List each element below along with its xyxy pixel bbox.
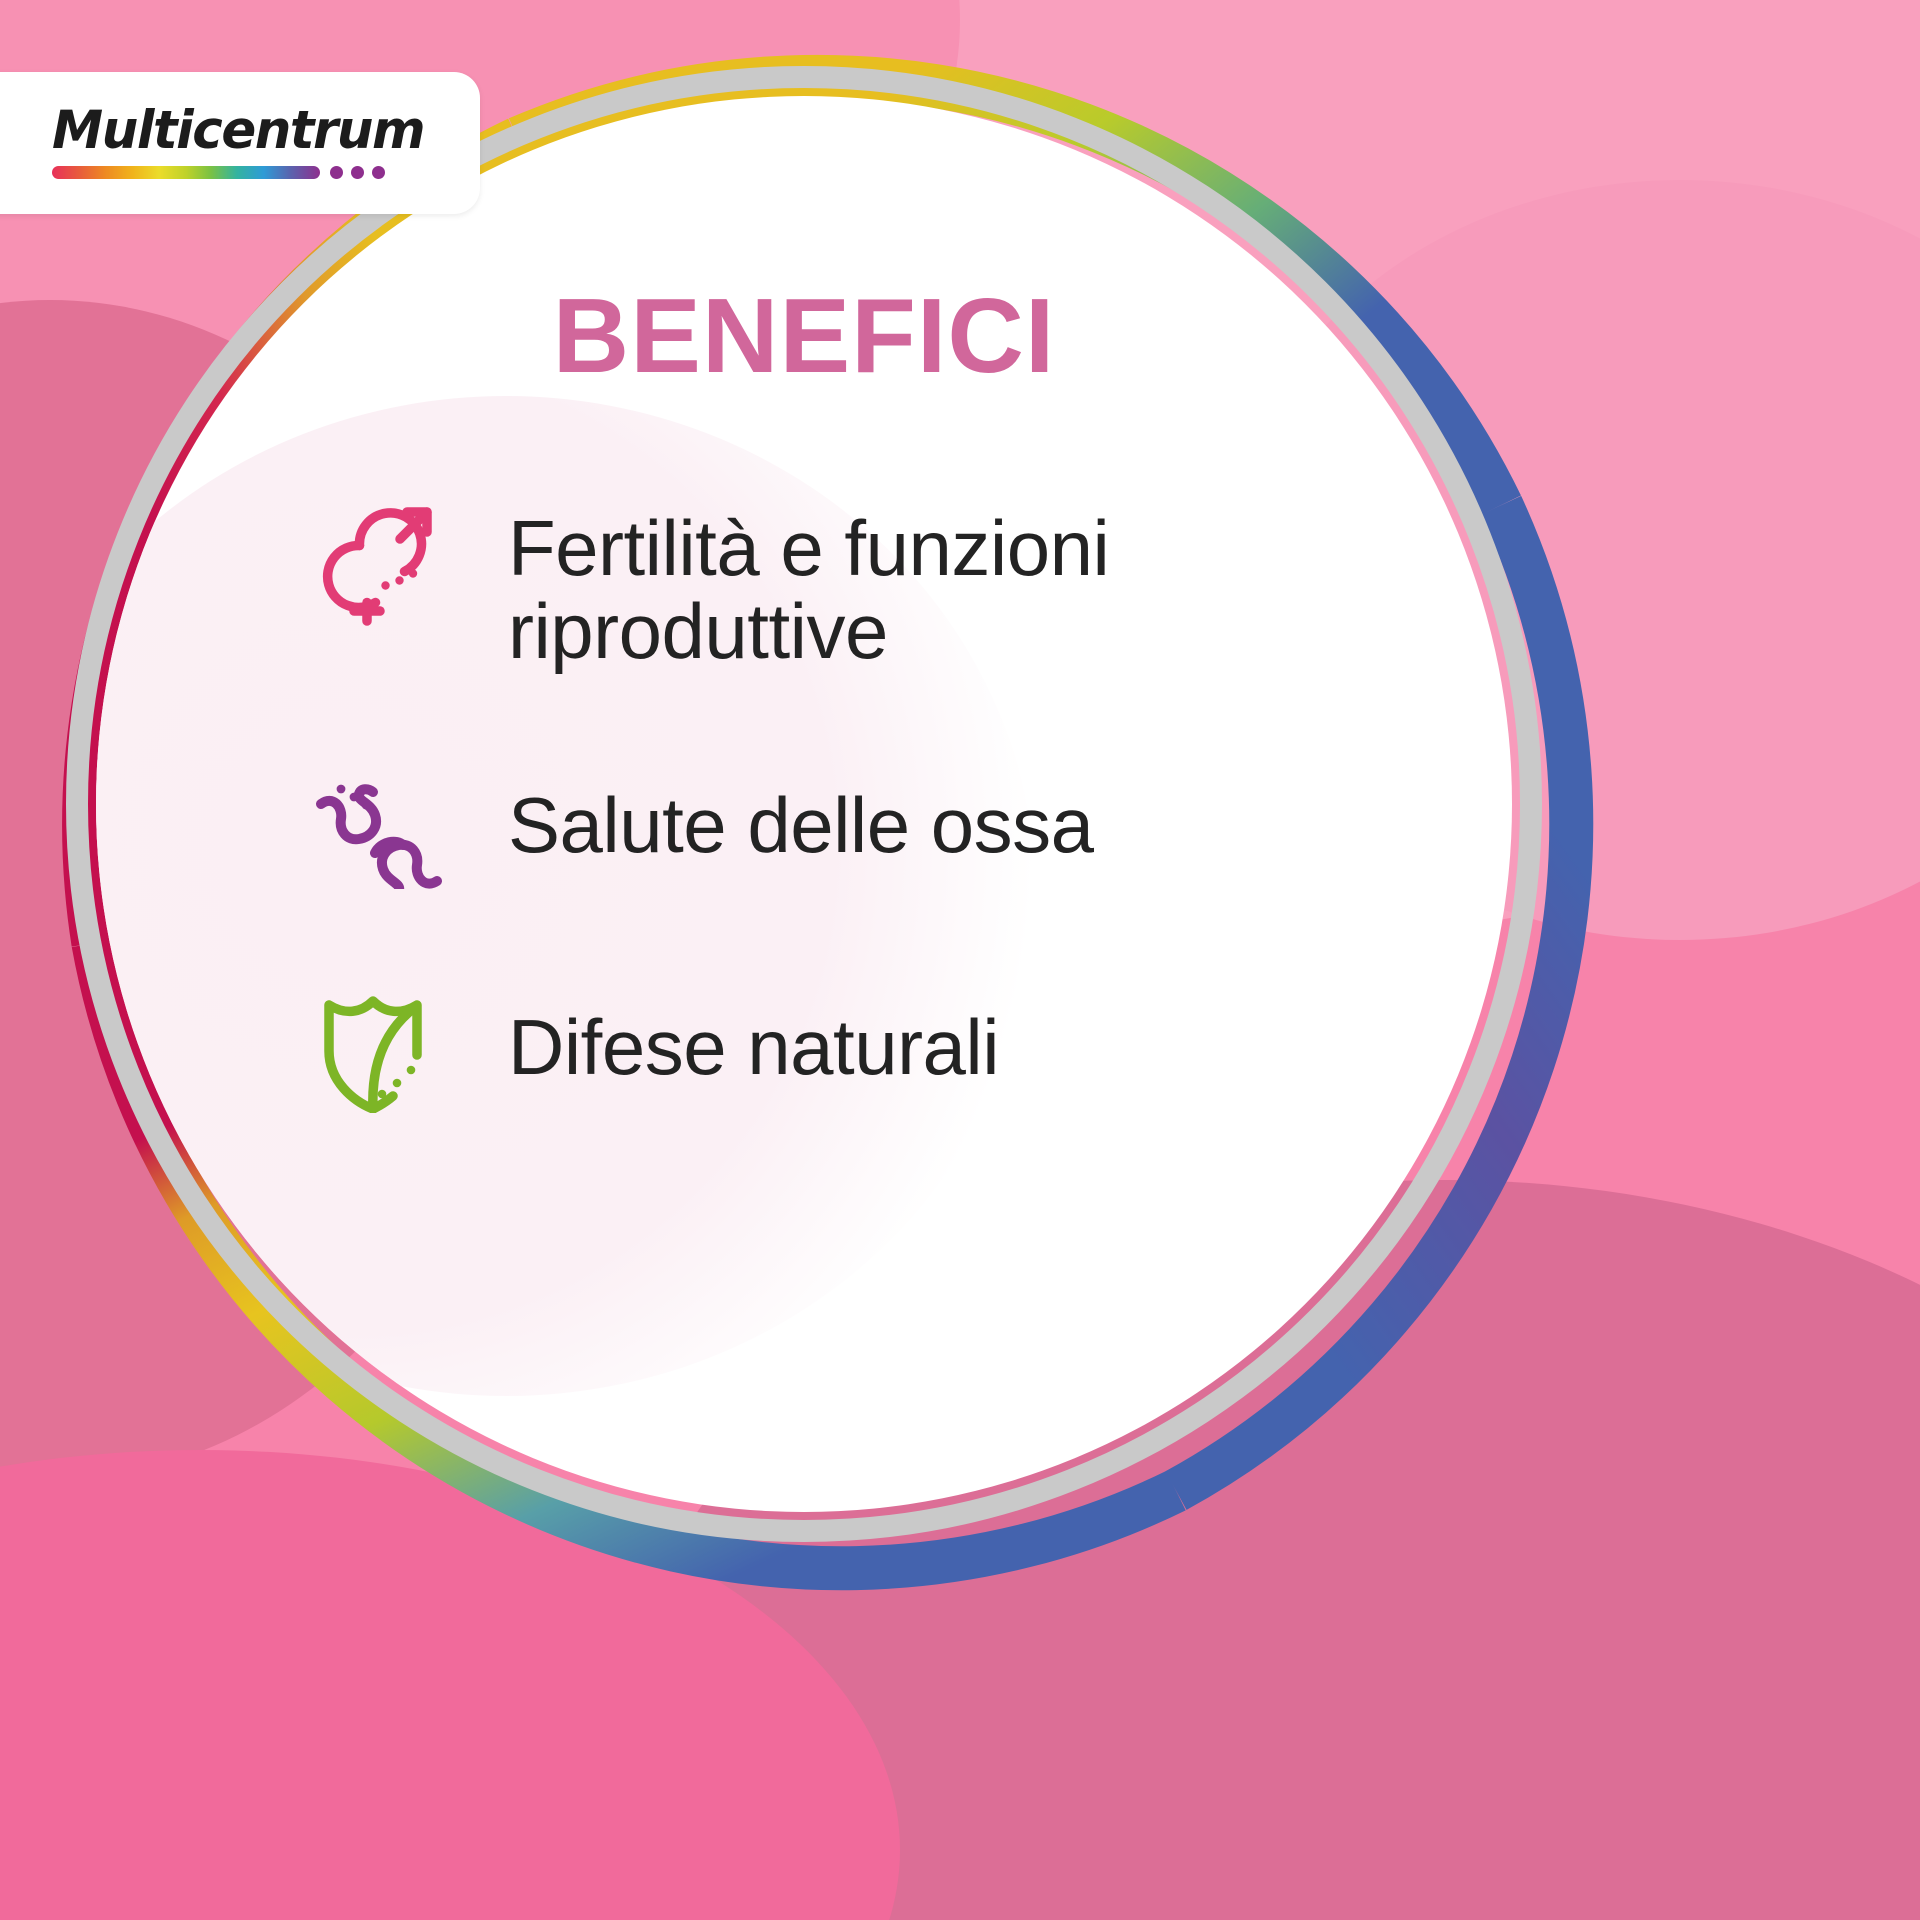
page-title: BENEFICI [96,276,1512,397]
list-item: Salute delle ossa [306,750,1366,896]
logo-bar [52,166,320,179]
list-item-label: Fertilità e funzioni riproduttive [452,491,1366,672]
logo-gradient-bar [52,166,374,179]
shield-icon [306,974,452,1120]
list-item-label: Difese naturali [452,974,999,1089]
logo-dot [351,166,364,179]
multicentrum-logo: Multicentrum [0,72,480,214]
list-item: Fertilità e funzioni riproduttive [306,491,1366,672]
logo-inner: Multicentrum [52,104,436,179]
male-female-symbols-icon [306,487,452,633]
card-content: BENEFICI [96,96,1512,1512]
list-item: Difese naturali [306,974,1366,1120]
poster-canvas: BENEFICI [0,0,1920,1920]
benefits-list: Fertilità e funzioni riproduttive [306,491,1366,1120]
logo-dot [330,166,343,179]
list-item-label: Salute delle ossa [452,750,1094,867]
bone-joint-icon [306,750,452,896]
logo-dot [372,166,385,179]
logo-wordmark: Multicentrum [52,104,424,157]
